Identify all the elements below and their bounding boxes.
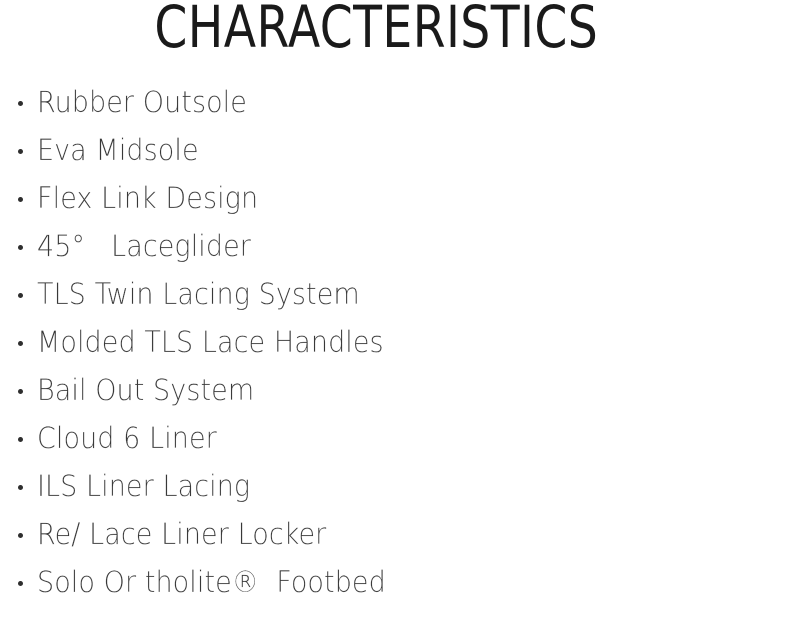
bullet-icon xyxy=(18,437,23,442)
bullet-icon xyxy=(18,389,23,394)
bullet-icon xyxy=(18,149,23,154)
list-item: Flex Link Design xyxy=(18,174,778,222)
list-item-label: 45° Laceglider xyxy=(37,232,251,261)
title-block: CHARACTERISTICS xyxy=(0,0,752,66)
bullet-icon xyxy=(18,245,23,250)
list-item: Eva Midsole xyxy=(18,126,778,174)
list-item: Rubber Outsole xyxy=(18,78,778,126)
list-item: 45° Laceglider xyxy=(18,222,778,270)
list-item: Cloud 6 Liner xyxy=(18,414,778,462)
list-item-label: Bail Out System xyxy=(37,376,254,405)
bullet-icon xyxy=(18,485,23,490)
bullet-icon xyxy=(18,533,23,538)
list-item-label: Solo Or tholite® Footbed xyxy=(37,568,386,597)
characteristics-list: Rubber Outsole Eva Midsole Flex Link Des… xyxy=(18,78,778,606)
list-item: ILS Liner Lacing xyxy=(18,462,778,510)
bullet-icon xyxy=(18,197,23,202)
list-item: TLS Twin Lacing System xyxy=(18,270,778,318)
bullet-icon xyxy=(18,341,23,346)
list-item-label: Cloud 6 Liner xyxy=(37,424,217,453)
list-item-label: ILS Liner Lacing xyxy=(37,472,250,501)
characteristics-slide: CHARACTERISTICS Rubber Outsole Eva Midso… xyxy=(0,0,800,626)
bullet-icon xyxy=(18,101,23,106)
list-item: Solo Or tholite® Footbed xyxy=(18,558,778,606)
page-title: CHARACTERISTICS xyxy=(154,0,598,66)
list-item-label: Re/ Lace Liner Locker xyxy=(37,520,326,549)
list-item-label: TLS Twin Lacing System xyxy=(37,280,360,309)
list-item-label: Rubber Outsole xyxy=(37,88,247,117)
list-item: Re/ Lace Liner Locker xyxy=(18,510,778,558)
bullet-icon xyxy=(18,581,23,586)
list-item-label: Eva Midsole xyxy=(37,136,199,165)
list-item: Molded TLS Lace Handles xyxy=(18,318,778,366)
list-item-label: Flex Link Design xyxy=(37,184,258,213)
bullet-icon xyxy=(18,293,23,298)
list-item-label: Molded TLS Lace Handles xyxy=(37,328,384,357)
list-item: Bail Out System xyxy=(18,366,778,414)
